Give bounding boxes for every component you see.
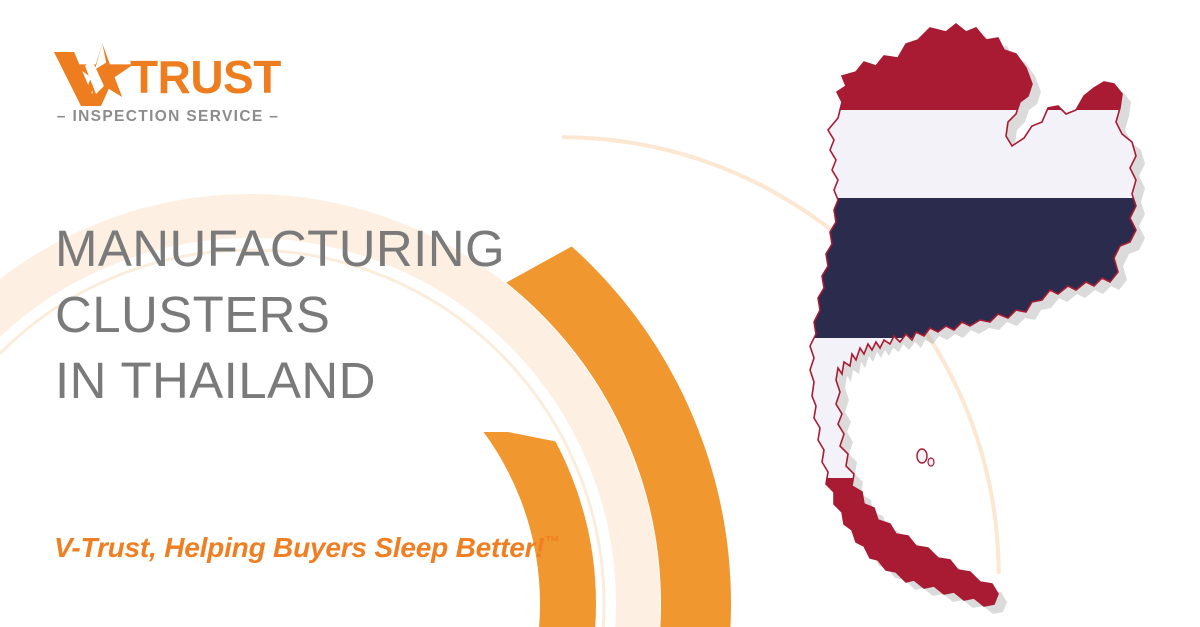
page-title-line-2: CLUSTERS	[55, 282, 505, 348]
page-title: MANUFACTURING CLUSTERS IN THAILAND	[55, 216, 505, 414]
logo-letter-v-stroke	[54, 52, 96, 106]
map-flag-fill	[780, 10, 1180, 620]
vtrust-logomark: TRUST	[52, 44, 284, 108]
logo-wordmark: TRUST	[130, 51, 281, 103]
flag-band-top-red	[780, 10, 1180, 110]
vtrust-logo[interactable]: TRUST – INSPECTION SERVICE –	[52, 44, 284, 136]
page-title-line-3: IN THAILAND	[55, 348, 505, 414]
flag-band-bottom-red	[780, 478, 1180, 620]
map-island-group	[917, 449, 934, 466]
brand-tagline-text: V-Trust, Helping Buyers Sleep Better!	[54, 532, 545, 563]
page-title-line-1: MANUFACTURING	[55, 216, 505, 282]
trademark-symbol: ™	[545, 534, 560, 551]
logo-subtitle: – INSPECTION SERVICE –	[52, 108, 284, 126]
thailand-map	[780, 10, 1180, 620]
brand-tagline: V-Trust, Helping Buyers Sleep Better!™	[54, 532, 559, 564]
poster-canvas: TRUST – INSPECTION SERVICE – MANUFACTURI…	[0, 0, 1200, 627]
